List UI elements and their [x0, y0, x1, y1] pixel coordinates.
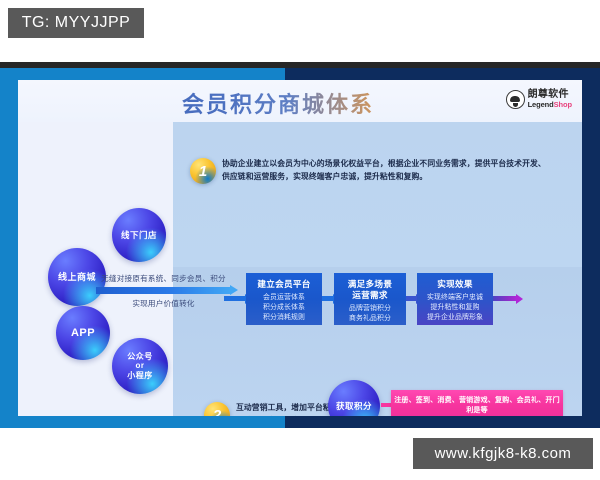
- flow-box-3-title: 实现效果: [417, 279, 493, 290]
- panda-logo-icon: [506, 90, 525, 109]
- integration-bridge: 无缝对接原有系统、同步会员、积分 实现用户价值转化: [96, 273, 231, 309]
- brand-name-en-shop: Shop: [554, 100, 572, 109]
- flow-box-1-title: 建立会员平台: [246, 279, 322, 290]
- step-badge-1: 1: [190, 158, 216, 184]
- slide-frame: 会员积分商城体系 朗尊软件 LegendShop 线下门店 线上商城: [0, 68, 600, 428]
- channel-sphere-app: APP: [56, 306, 110, 360]
- flow-arrow-outbound: [493, 296, 517, 301]
- flow-arrow-box1-box2: [322, 296, 334, 301]
- step-description-1: 协助企业建立以会员为中心的场景化权益平台，根据企业不同业务需求，提供平台技术开发…: [222, 158, 552, 184]
- brand-logo-text: 朗尊软件 LegendShop: [528, 90, 572, 108]
- upper-content-band: [18, 122, 582, 267]
- flow-box-2-subtitle: 品牌营销积分 商务礼品积分: [334, 304, 406, 324]
- flow-arrow-box2-box3: [406, 296, 417, 301]
- flow-box-3-subtitle: 实现终端客户忠诚 提升粘性和复购 提升企业品牌形象: [417, 293, 493, 323]
- slide-header: 会员积分商城体系 朗尊软件 LegendShop: [18, 80, 582, 122]
- page-title: 会员积分商城体系: [18, 87, 538, 119]
- points-earn-methods: 注册、签到、消费、营销游戏、复购、会员礼、开门利是等: [391, 390, 563, 416]
- flow-box-member-platform: 建立会员平台 会员运营体系 积分成长体系 积分消耗规则: [246, 273, 322, 325]
- flow-box-results: 实现效果 实现终端客户忠诚 提升粘性和复购 提升企业品牌形象: [417, 273, 493, 325]
- channel-sphere-offline-store: 线下门店: [112, 208, 166, 262]
- telegram-watermark: TG: MYYJJPP: [8, 8, 144, 38]
- screenshot-root: TG: MYYJJPP 会员积分商城体系 朗尊软件 LegendShop: [0, 0, 600, 480]
- flow-box-1-subtitle: 会员运营体系 积分成长体系 积分消耗规则: [246, 293, 322, 323]
- bridge-line-bottom: 实现用户价值转化: [96, 298, 231, 309]
- brand-name-en: LegendShop: [528, 101, 572, 109]
- flow-box-2-title: 满足多场景 运营需求: [334, 279, 406, 301]
- right-arrow-icon: [96, 287, 231, 294]
- slide-page: 会员积分商城体系 朗尊软件 LegendShop 线下门店 线上商城: [18, 80, 582, 416]
- flow-box-multi-scenario: 满足多场景 运营需求 品牌营销积分 商务礼品积分: [334, 273, 406, 325]
- brand-name-en-legend: Legend: [528, 100, 554, 109]
- flow-arrow-into-box1: [224, 296, 246, 301]
- brand-logo: 朗尊软件 LegendShop: [506, 90, 572, 109]
- bridge-line-top: 无缝对接原有系统、同步会员、积分: [96, 273, 231, 284]
- channel-sphere-wechat: 公众号 or 小程序: [112, 338, 168, 394]
- url-watermark: www.kfgjk8-k8.com: [413, 438, 593, 469]
